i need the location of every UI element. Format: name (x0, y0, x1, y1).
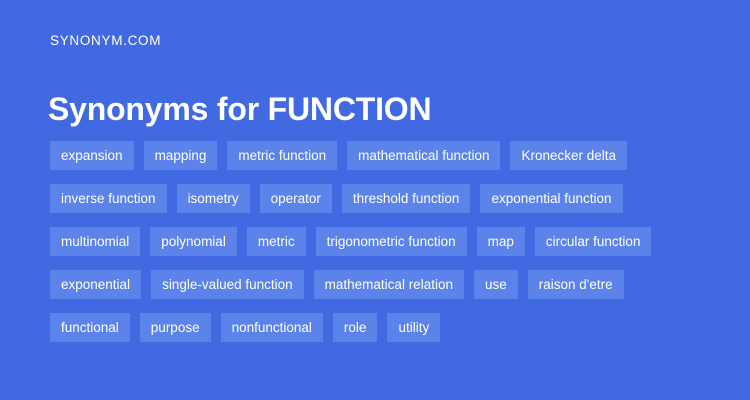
synonym-tag[interactable]: threshold function (342, 184, 471, 213)
synonym-tag[interactable]: isometry (177, 184, 250, 213)
synonym-tag[interactable]: exponential function (480, 184, 622, 213)
site-brand: SYNONYM.COM (50, 33, 161, 49)
synonym-tag-row: exponentialsingle-valued functionmathema… (50, 270, 730, 299)
synonym-tag[interactable]: multinomial (50, 227, 140, 256)
synonym-tag[interactable]: mapping (144, 141, 218, 170)
synonym-tag-row: functionalpurposenonfunctionalroleutilit… (50, 313, 730, 342)
synonym-tag[interactable]: inverse function (50, 184, 167, 213)
synonym-tag[interactable]: use (474, 270, 518, 299)
synonym-tag[interactable]: circular function (535, 227, 652, 256)
synonym-tag[interactable]: utility (387, 313, 440, 342)
synonym-tag[interactable]: trigonometric function (316, 227, 467, 256)
synonym-tag-row: inverse functionisometryoperatorthreshol… (50, 184, 730, 213)
synonym-tag[interactable]: nonfunctional (221, 313, 323, 342)
synonym-tag-list: expansionmappingmetric functionmathemati… (50, 141, 730, 342)
synonym-tag-row: expansionmappingmetric functionmathemati… (50, 141, 730, 170)
synonym-tag[interactable]: role (333, 313, 378, 342)
synonym-tag[interactable]: purpose (140, 313, 211, 342)
synonym-tag[interactable]: metric (247, 227, 306, 256)
synonym-tag[interactable]: mathematical relation (314, 270, 464, 299)
synonym-tag[interactable]: single-valued function (151, 270, 304, 299)
synonym-tag[interactable]: polynomial (150, 227, 237, 256)
synonym-tag[interactable]: metric function (227, 141, 337, 170)
synonym-tag[interactable]: expansion (50, 141, 134, 170)
synonym-tag[interactable]: exponential (50, 270, 141, 299)
synonym-tag[interactable]: Kronecker delta (510, 141, 627, 170)
synonym-tag[interactable]: functional (50, 313, 130, 342)
synonym-tag[interactable]: map (477, 227, 525, 256)
synonym-tag[interactable]: mathematical function (347, 141, 500, 170)
synonym-tag-row: multinomialpolynomialmetrictrigonometric… (50, 227, 730, 256)
synonym-tag[interactable]: operator (260, 184, 332, 213)
synonym-tag[interactable]: raison d'etre (528, 270, 624, 299)
synonyms-page: SYNONYM.COM Synonyms for FUNCTION expans… (0, 0, 750, 400)
page-title: Synonyms for FUNCTION (48, 89, 431, 129)
